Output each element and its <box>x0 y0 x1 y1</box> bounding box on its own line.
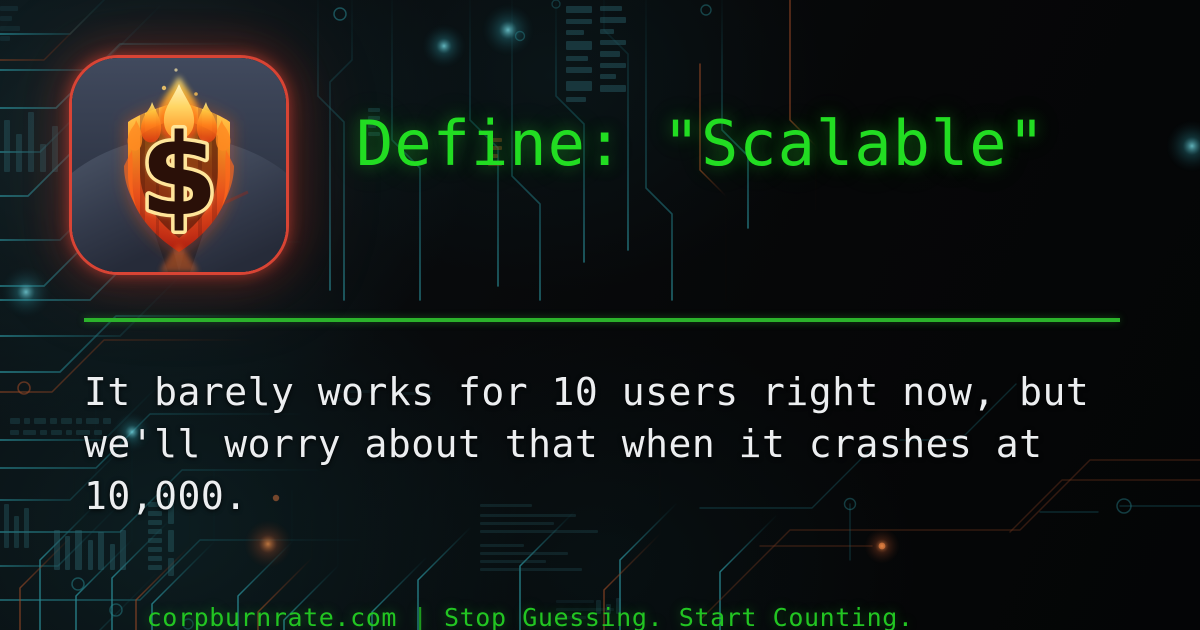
social-share-card: $ $ $ Define: "Scalable" It barely works… <box>0 0 1200 630</box>
footer-separator: | <box>397 603 444 630</box>
page-title: Define: "Scalable" <box>356 112 1156 176</box>
svg-text:$: $ <box>140 111 218 241</box>
footer-tagline: Stop Guessing. Start Counting. <box>444 603 914 630</box>
footer: corpburnrate.com | Stop Guessing. Start … <box>84 574 914 630</box>
corpburnrate-logo: $ $ $ <box>72 58 286 272</box>
footer-site-url[interactable]: corpburnrate.com <box>147 603 397 630</box>
flaming-dollar-shield-icon: $ $ $ <box>72 58 286 272</box>
body-text: It barely works for 10 users right now, … <box>84 366 1154 522</box>
divider <box>84 318 1120 322</box>
